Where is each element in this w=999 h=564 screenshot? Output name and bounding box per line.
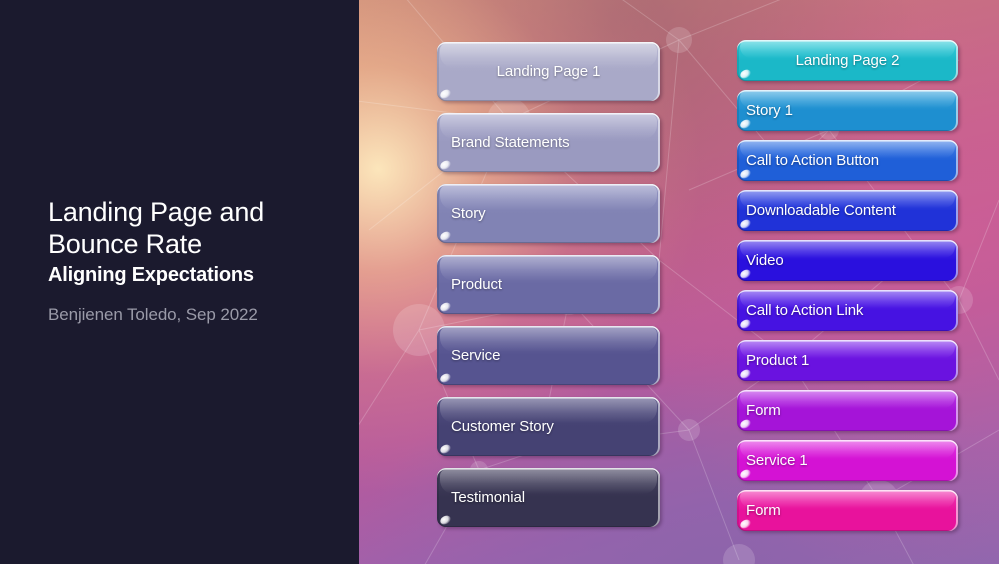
landing-page-2-flow: Landing Page 2Story 1Call to Action Butt… xyxy=(737,40,958,540)
flow-box-right-label: Call to Action Link xyxy=(746,302,863,319)
flow-box-left-label: Landing Page 1 xyxy=(497,63,601,80)
flow-box-left-6[interactable]: Customer Story xyxy=(437,397,660,456)
flow-box-right-6[interactable]: Call to Action Link xyxy=(737,290,958,331)
flow-box-left-2[interactable]: Brand Statements xyxy=(437,113,660,172)
flow-box-left-label: Service xyxy=(451,347,500,364)
flow-box-right-3[interactable]: Call to Action Button xyxy=(737,140,958,181)
flow-box-right-2[interactable]: Story 1 xyxy=(737,90,958,131)
flow-box-right-8[interactable]: Form xyxy=(737,390,958,431)
flow-box-left-label: Testimonial xyxy=(451,489,525,506)
flow-box-left-7[interactable]: Testimonial xyxy=(437,468,660,527)
flow-box-left-3[interactable]: Story xyxy=(437,184,660,243)
flow-box-right-9[interactable]: Service 1 xyxy=(737,440,958,481)
page-title-line-1: Landing Page and xyxy=(48,196,338,228)
author-byline: Benjienen Toledo, Sep 2022 xyxy=(48,304,338,326)
flow-box-right-label: Story 1 xyxy=(746,102,793,119)
flow-box-left-4[interactable]: Product xyxy=(437,255,660,314)
page-subtitle: Aligning Expectations xyxy=(48,262,338,288)
flow-box-left-label: Customer Story xyxy=(451,418,554,435)
flow-box-right-4[interactable]: Downloadable Content xyxy=(737,190,958,231)
title-block: Landing Page and Bounce Rate Aligning Ex… xyxy=(48,196,338,326)
flow-box-right-5[interactable]: Video xyxy=(737,240,958,281)
flow-box-left-1[interactable]: Landing Page 1 xyxy=(437,42,660,101)
flow-box-right-label: Service 1 xyxy=(746,452,808,469)
flow-box-right-label: Form xyxy=(746,402,781,419)
flow-box-right-label: Call to Action Button xyxy=(746,152,879,169)
flow-box-right-7[interactable]: Product 1 xyxy=(737,340,958,381)
flow-box-left-label: Product xyxy=(451,276,502,293)
presentation-slide: Landing Page and Bounce Rate Aligning Ex… xyxy=(0,0,999,564)
landing-page-1-flow: Landing Page 1Brand StatementsStoryProdu… xyxy=(437,42,660,539)
title-panel: Landing Page and Bounce Rate Aligning Ex… xyxy=(0,0,359,564)
flow-box-right-label: Landing Page 2 xyxy=(796,52,900,69)
flow-box-right-label: Form xyxy=(746,502,781,519)
flow-box-right-10[interactable]: Form xyxy=(737,490,958,531)
flow-box-left-label: Brand Statements xyxy=(451,134,569,151)
flow-box-right-label: Video xyxy=(746,252,784,269)
flow-box-right-label: Product 1 xyxy=(746,352,809,369)
flow-box-right-label: Downloadable Content xyxy=(746,202,896,219)
flow-box-right-1[interactable]: Landing Page 2 xyxy=(737,40,958,81)
flow-box-left-label: Story xyxy=(451,205,486,222)
flow-box-left-5[interactable]: Service xyxy=(437,326,660,385)
page-title-line-2: Bounce Rate xyxy=(48,228,338,260)
